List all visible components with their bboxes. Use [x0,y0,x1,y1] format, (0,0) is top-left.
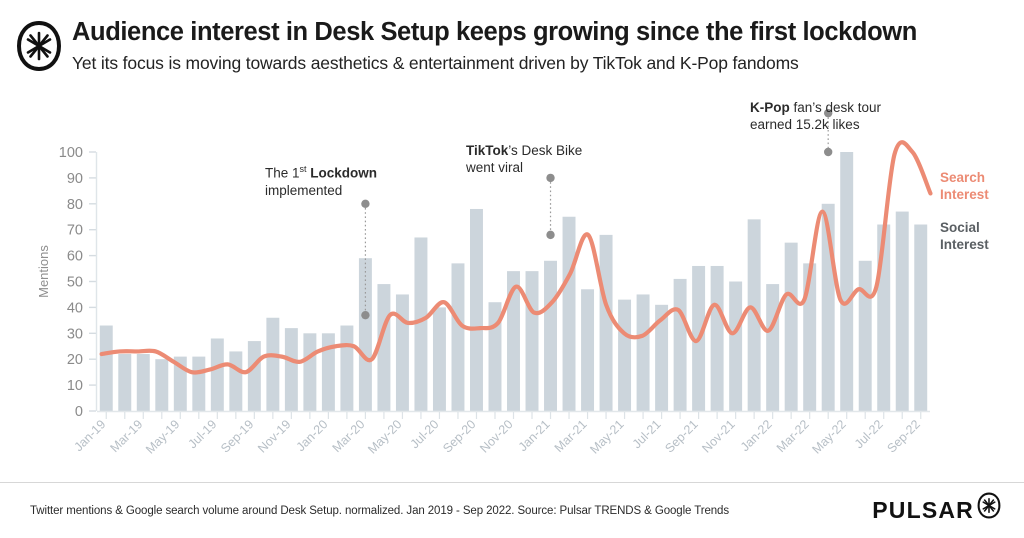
annotation-tiktok-line1-plain: ’s Desk Bike [508,143,582,158]
y-axis-ticks: 0102030405060708090100 [59,145,96,420]
bar [674,279,687,411]
bar [896,212,909,411]
annotation-leader-lines [361,109,832,319]
annotation-dot [361,311,369,319]
legend-social-line2: Interest [940,237,989,254]
bar [470,209,483,411]
pulsar-asterisk-icon [976,492,1002,519]
bar-series-social-interest [100,152,927,411]
x-tick-label: Jul-20 [408,417,442,451]
bar [526,271,539,411]
legend-item-search-interest: Search Interest [940,170,989,203]
x-tick-label: Sep-19 [218,417,256,455]
annotation-tiktok-line1: TikTok’s Desk Bike [466,142,582,159]
x-tick-label: Mar-21 [552,417,590,455]
annotation-lockdown-ordinal-suffix: st [300,164,307,174]
bar [285,328,298,411]
annotation-kpop-line1-plain: fan’s desk tour [790,100,881,115]
y-tick-label: 50 [67,275,83,291]
x-tick-label: Mar-22 [774,417,812,455]
legend-item-social-interest: Social Interest [940,220,989,253]
annotation-kpop-line1: K-Pop fan’s desk tour [750,99,881,116]
annotation-lockdown-line1-plain: The 1 [265,166,300,181]
chart-footer: Twitter mentions & Google search volume … [0,482,1024,538]
legend-search-line2: Interest [940,187,989,204]
annotation-dot [546,231,554,239]
legend-search-line1: Search [940,170,989,187]
bar [433,307,446,411]
bar [544,261,557,411]
bar [859,261,872,411]
bar [359,258,372,411]
bar [637,294,650,411]
bar [229,351,242,411]
x-tick-label: Jan-20 [294,417,331,454]
bar [118,354,131,411]
x-tick-label: May-22 [809,417,848,456]
annotation-tiktok-line2: went viral [466,159,582,176]
bar [711,266,724,411]
bar [618,300,631,411]
x-tick-label: May-21 [587,417,626,456]
y-tick-label: 70 [67,223,83,239]
x-tick-label: Nov-21 [699,417,737,455]
bar [303,333,316,411]
x-tick-label: Sep-20 [440,417,478,455]
x-tick-label: Sep-22 [884,417,922,455]
bar [766,284,779,411]
bar [248,341,261,411]
annotation-tiktok: TikTok’s Desk Bike went viral [466,142,582,177]
footer-source-note: Twitter mentions & Google search volume … [30,505,729,517]
annotation-lockdown: The 1st Lockdown implemented [265,164,377,199]
annotation-tiktok-line1-bold: TikTok [466,143,508,158]
bar [192,357,205,411]
bar [914,225,927,411]
chart-plot-area: 0102030405060708090100 Jan-19Mar-19May-1… [0,94,1024,484]
x-tick-label: Mar-20 [330,417,368,455]
legend-social-line1: Social [940,220,989,237]
y-tick-label: 20 [67,352,83,368]
pulsar-asterisk-icon [14,20,64,72]
annotation-lockdown-line2: implemented [265,182,377,199]
x-tick-label: Jul-22 [852,417,886,451]
annotation-dot [824,148,832,156]
y-tick-label: 10 [67,378,83,394]
chart-header: Audience interest in Desk Setup keeps gr… [0,0,1024,94]
x-tick-label: Jan-21 [516,417,553,454]
x-axis-ticks: Jan-19Mar-19May-19Jul-19Sep-19Nov-19Jan-… [71,412,922,457]
bar [396,294,409,411]
x-tick-label: Nov-20 [477,417,515,455]
page-title: Audience interest in Desk Setup keeps gr… [72,18,1004,47]
annotation-kpop-line1-bold: K-Pop [750,100,790,115]
bar [155,359,168,411]
y-tick-label: 30 [67,326,83,342]
y-tick-label: 40 [67,300,83,316]
y-tick-label: 0 [75,404,83,420]
bar [581,289,594,411]
y-tick-label: 80 [67,197,83,213]
y-tick-label: 90 [67,171,83,187]
annotation-kpop-line2: earned 15.2k likes [750,116,881,133]
annotation-lockdown-line1-bold: Lockdown [307,166,378,181]
footer-brand-wordmark: PULSAR [872,499,974,522]
x-tick-label: Jul-19 [185,417,219,451]
annotation-kpop: K-Pop fan’s desk tour earned 15.2k likes [750,99,881,134]
x-tick-label: May-19 [143,417,182,456]
y-tick-label: 100 [59,145,83,161]
x-tick-label: Jan-22 [738,417,775,454]
footer-brand: PULSAR [872,499,1002,522]
x-tick-label: Jan-19 [71,417,108,454]
bar [137,354,150,411]
x-tick-label: Sep-21 [662,417,700,455]
title-block: Audience interest in Desk Setup keeps gr… [72,16,1004,74]
bar [211,338,224,411]
bar [729,282,742,412]
bar [840,152,853,411]
annotation-dot [361,200,369,208]
x-tick-label: May-20 [365,417,404,456]
x-tick-label: Mar-19 [108,417,146,455]
bar [266,318,279,411]
bar [340,326,353,411]
bar [600,235,613,411]
bar [563,217,576,411]
x-tick-label: Nov-19 [255,417,293,455]
page-subtitle: Yet its focus is moving towards aestheti… [72,53,1004,74]
y-axis-title: Mentions [36,245,51,298]
bar [785,243,798,411]
bar [451,263,464,411]
annotation-lockdown-line1: The 1st Lockdown [265,164,377,182]
bar [414,237,427,411]
y-tick-label: 60 [67,249,83,265]
x-tick-label: Jul-21 [630,417,664,451]
bar [100,326,113,411]
